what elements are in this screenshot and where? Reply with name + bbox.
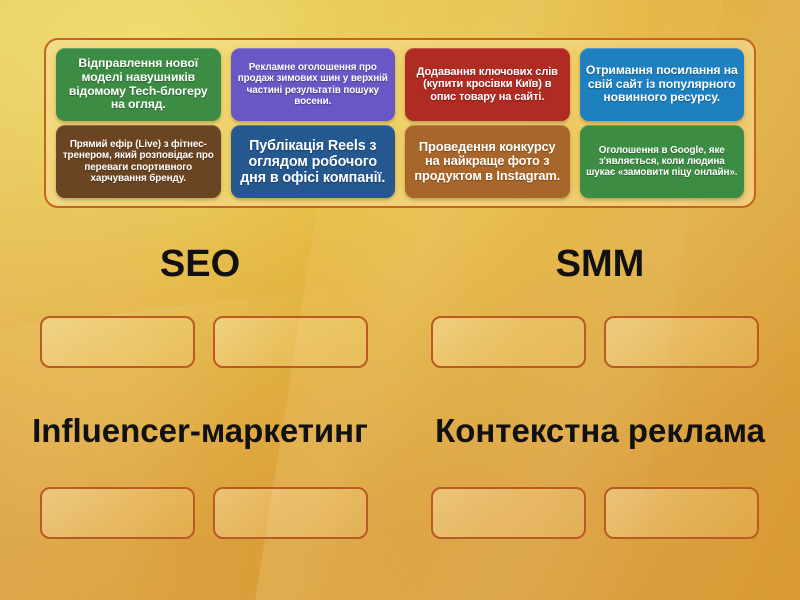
category-heading-seo: SEO — [0, 243, 400, 286]
drop-slot-influencer-2[interactable] — [213, 487, 368, 539]
tile-label: Проведення конкурсу на найкраще фото з п… — [411, 140, 564, 183]
draggable-tile[interactable]: Отримання посилання на свій сайт із попу… — [580, 48, 745, 121]
category-heading-smm: SMM — [400, 243, 800, 286]
draggable-tile[interactable]: Додавання ключових слів (купити кросівки… — [405, 48, 570, 121]
tile-tray: Відправлення нової моделі навушників від… — [44, 38, 756, 208]
draggable-tile[interactable]: Прямий ефір (Live) з фітнес-тренером, як… — [56, 125, 221, 198]
tile-row-1: Відправлення нової моделі навушників від… — [56, 48, 744, 121]
tile-label: Оголошення в Google, яке з'являється, ко… — [586, 145, 739, 178]
category-heading-contextual-advertising: Контекстна реклама — [400, 412, 800, 450]
drop-slot-seo-2[interactable] — [213, 316, 368, 368]
tile-label: Прямий ефір (Live) з фітнес-тренером, як… — [62, 139, 215, 183]
tile-label: Отримання посилання на свій сайт із попу… — [586, 64, 739, 105]
tile-label: Рекламне оголошення про продаж зимових ш… — [237, 62, 390, 106]
tile-row-2: Прямий ефір (Live) з фітнес-тренером, як… — [56, 125, 744, 198]
category-heading-influencer-marketing: Influencer-маркетинг — [0, 412, 400, 450]
drop-slot-contextual-1[interactable] — [431, 487, 586, 539]
draggable-tile[interactable]: Відправлення нової моделі навушників від… — [56, 48, 221, 121]
drop-slot-contextual-2[interactable] — [604, 487, 759, 539]
tile-label: Публікація Reels з оглядом робочого дня … — [237, 138, 390, 186]
drop-slot-smm-1[interactable] — [431, 316, 586, 368]
tile-label: Відправлення нової моделі навушників від… — [62, 57, 215, 112]
draggable-tile[interactable]: Публікація Reels з оглядом робочого дня … — [231, 125, 396, 198]
draggable-tile[interactable]: Оголошення в Google, яке з'являється, ко… — [580, 125, 745, 198]
draggable-tile[interactable]: Рекламне оголошення про продаж зимових ш… — [231, 48, 396, 121]
drop-slot-influencer-1[interactable] — [40, 487, 195, 539]
drop-slot-smm-2[interactable] — [604, 316, 759, 368]
draggable-tile[interactable]: Проведення конкурсу на найкраще фото з п… — [405, 125, 570, 198]
tile-label: Додавання ключових слів (купити кросівки… — [411, 66, 564, 103]
drop-slot-seo-1[interactable] — [40, 316, 195, 368]
activity-stage: Відправлення нової моделі навушників від… — [0, 0, 800, 600]
